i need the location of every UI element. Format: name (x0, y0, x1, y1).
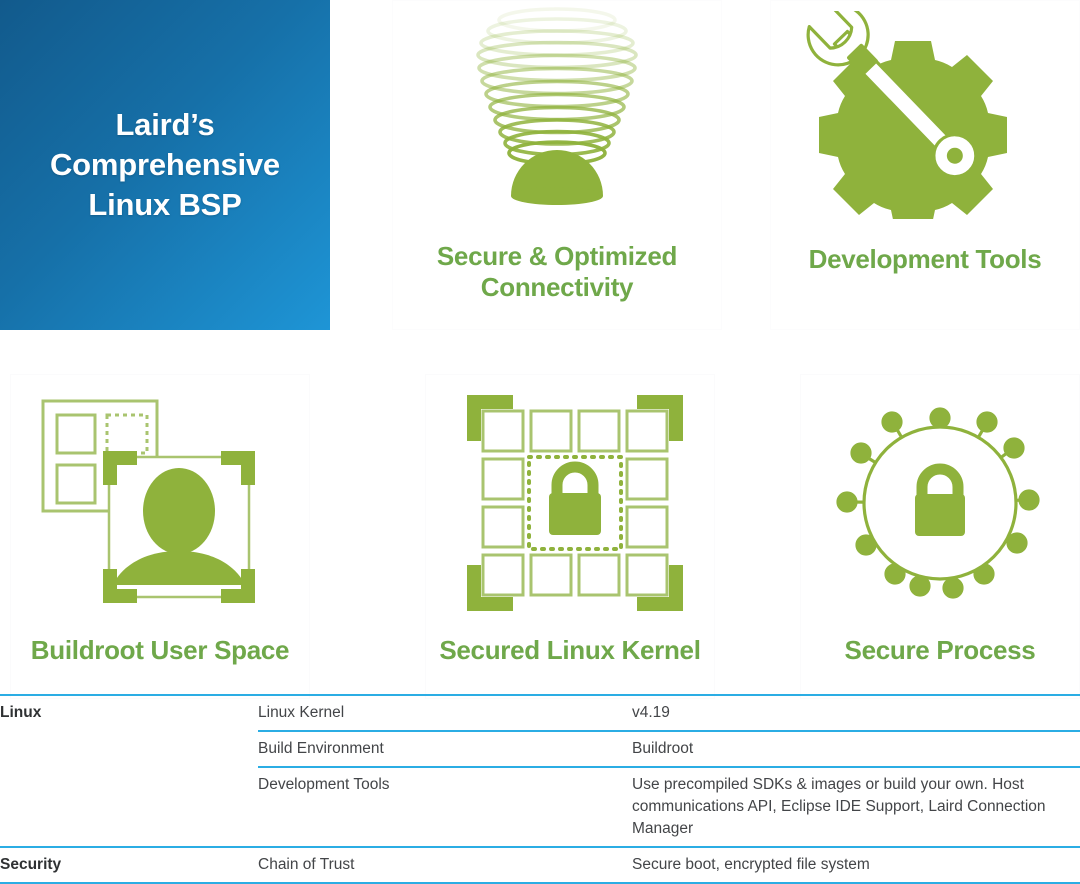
user-in-frame-icon (11, 375, 309, 630)
table-cell-category: Security (0, 847, 258, 883)
feature-card-process: Secure Process (800, 374, 1080, 699)
gear-wrench-icon (771, 1, 1079, 229)
hero-tile: Laird’s Comprehensive Linux BSP (0, 0, 330, 330)
feature-card-connectivity: Secure & Optimized Connectivity (392, 0, 722, 330)
feature-card-devtools-label-line-1: Development Tools (771, 244, 1079, 275)
feature-card-connectivity-label-line-1: Secure & Optimized (393, 241, 721, 272)
table-cell-item: Chain of Trust (258, 847, 632, 883)
feature-card-connectivity-label-line-2: Connectivity (393, 272, 721, 303)
table-cell-category (0, 731, 258, 767)
spec-table: Linux Linux Kernel v4.19 Build Environme… (0, 694, 1080, 884)
page-title-line-3: Linux BSP (50, 185, 280, 225)
table-row: Linux Linux Kernel v4.19 (0, 695, 1080, 731)
table-cell-item: Build Environment (258, 731, 632, 767)
wireless-signal-funnel-icon (393, 1, 721, 226)
feature-card-kernel-label: Secured Linux Kernel (426, 635, 714, 666)
table-cell-value: Use precompiled SDKs & images or build y… (632, 767, 1080, 847)
feature-card-connectivity-label: Secure & Optimized Connectivity (393, 241, 721, 302)
page-title-line-2: Comprehensive (50, 145, 280, 185)
table-cell-value: Buildroot (632, 731, 1080, 767)
feature-card-userspace: Buildroot User Space (10, 374, 310, 699)
feature-card-process-label-line-1: Secure Process (801, 635, 1079, 666)
grid-lock-icon (426, 375, 714, 630)
table-cell-value: v4.19 (632, 695, 1080, 731)
network-lock-icon (801, 375, 1079, 630)
table-cell-item: Development Tools (258, 767, 632, 847)
table-row: Development Tools Use precompiled SDKs &… (0, 767, 1080, 847)
table-row: Security Chain of Trust Secure boot, enc… (0, 847, 1080, 883)
feature-card-kernel: Secured Linux Kernel (425, 374, 715, 699)
table-cell-category: Linux (0, 695, 258, 731)
page-title-line-1: Laird’s (50, 105, 280, 145)
page-title: Laird’s Comprehensive Linux BSP (50, 105, 280, 224)
feature-card-process-label: Secure Process (801, 635, 1079, 666)
table-cell-item: Linux Kernel (258, 695, 632, 731)
table-row: Build Environment Buildroot (0, 731, 1080, 767)
table-cell-category (0, 767, 258, 847)
feature-card-kernel-label-line-1: Secured Linux Kernel (426, 635, 714, 666)
feature-card-userspace-label: Buildroot User Space (11, 635, 309, 666)
feature-card-devtools-label: Development Tools (771, 244, 1079, 275)
feature-card-devtools: Development Tools (770, 0, 1080, 330)
feature-card-userspace-label-line-1: Buildroot User Space (11, 635, 309, 666)
table-cell-value: Secure boot, encrypted file system (632, 847, 1080, 883)
